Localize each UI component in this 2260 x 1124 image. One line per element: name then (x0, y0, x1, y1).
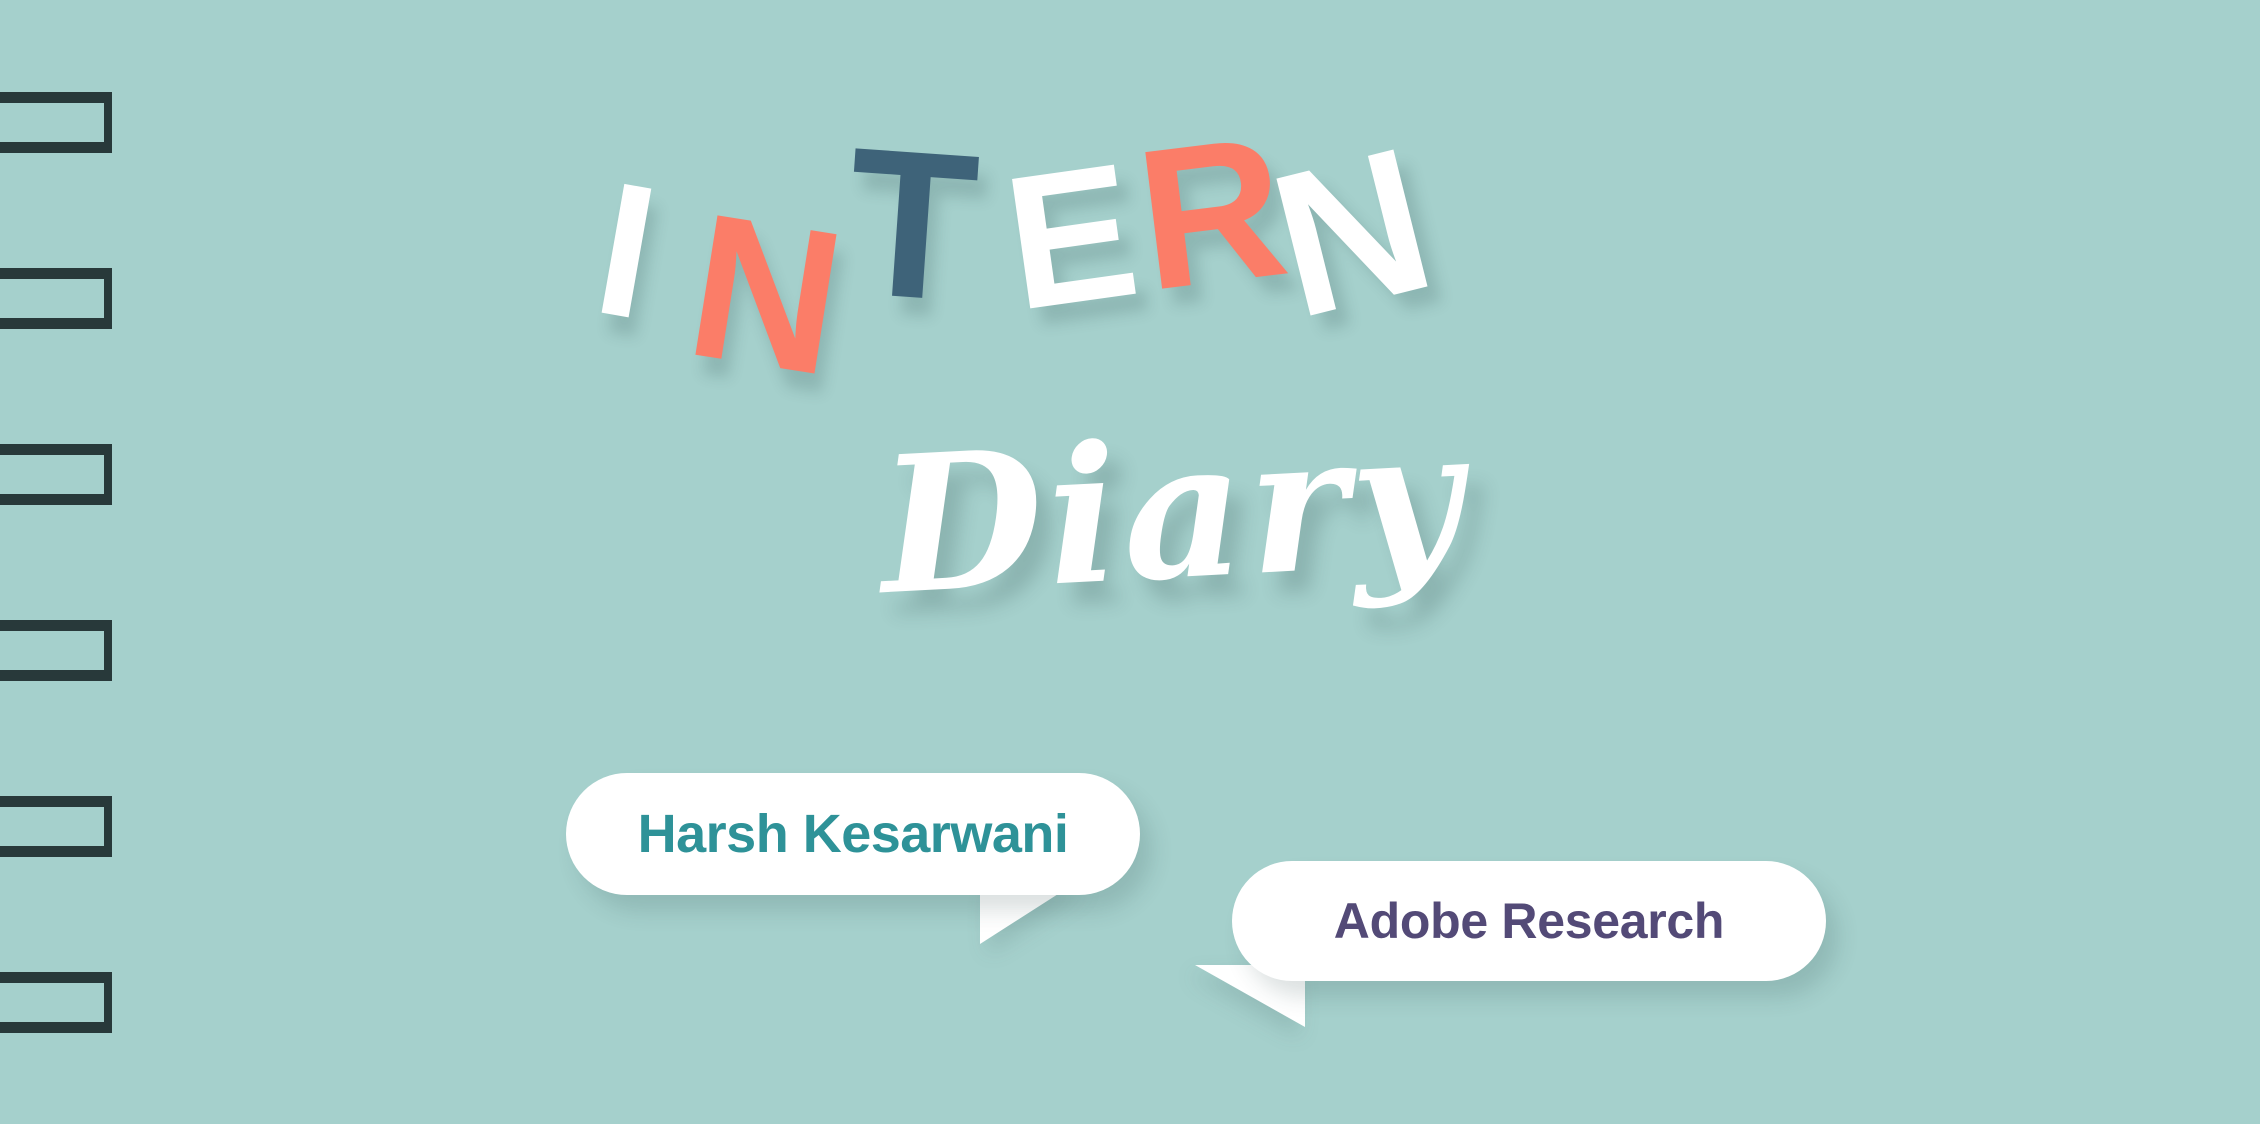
spiral-binding (0, 0, 170, 1124)
binding-ring-hole (0, 631, 104, 670)
binding-ring-hole (0, 983, 104, 1022)
binding-ring (0, 268, 112, 329)
binding-ring-hole (0, 455, 104, 494)
title-letter: N (677, 182, 855, 408)
binding-ring (0, 620, 112, 681)
organization-label: Adobe Research (1334, 892, 1724, 950)
organization-bubble[interactable]: Adobe Research (1232, 861, 1826, 981)
slide-canvas: INTERN Diary Harsh Kesarwani Adobe Resea… (0, 0, 2260, 1124)
speaker-name-bubble[interactable]: Harsh Kesarwani (566, 773, 1140, 895)
binding-ring-hole (0, 103, 104, 142)
binding-ring (0, 796, 112, 857)
binding-ring (0, 972, 112, 1033)
binding-ring (0, 92, 112, 153)
title-intern: INTERN (600, 120, 1700, 420)
speaker-name-label: Harsh Kesarwani (638, 803, 1069, 865)
title-letter: T (841, 116, 984, 334)
binding-ring-hole (0, 279, 104, 318)
binding-ring (0, 444, 112, 505)
title-letter: I (584, 153, 669, 349)
title-letter: E (995, 134, 1147, 340)
binding-ring-hole (0, 807, 104, 846)
title-diary: Diary (875, 403, 1469, 621)
